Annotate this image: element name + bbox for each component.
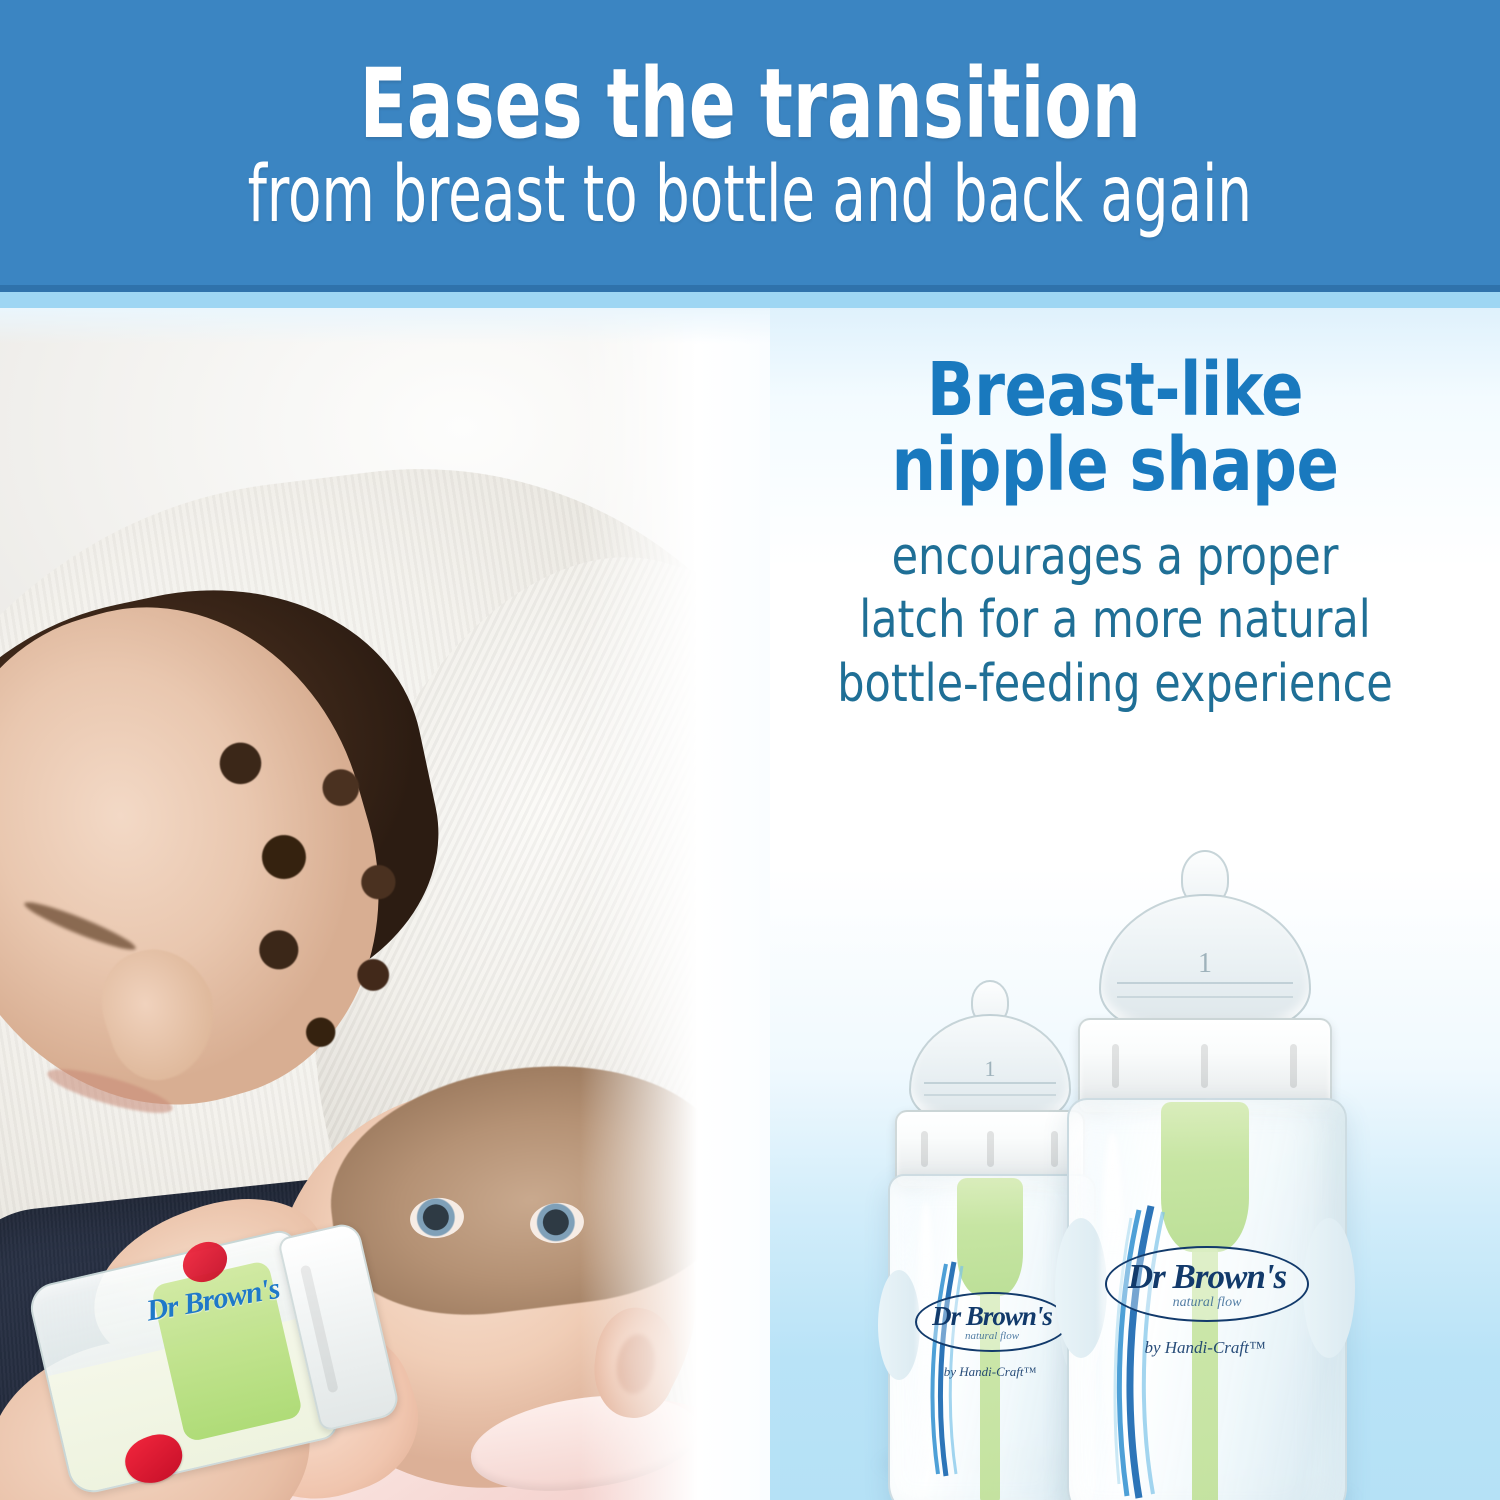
feature-headline-line1: Breast-like bbox=[767, 353, 1463, 428]
small-bottle-logo: Dr Brown's natural flow by Handi-Craft™ bbox=[915, 1292, 1065, 1380]
lifestyle-photo: Dr Brown's bbox=[0, 308, 770, 1500]
banner-title: Eases the transition bbox=[359, 56, 1140, 152]
logo-manufacturer: by Handi-Craft™ bbox=[915, 1364, 1065, 1380]
feature-headline-line2: nipple shape bbox=[767, 428, 1463, 503]
logo-oval: Dr Brown's natural flow bbox=[915, 1292, 1069, 1352]
bottle-vent-insert bbox=[1161, 1102, 1249, 1252]
logo-tagline: natural flow bbox=[1173, 1296, 1242, 1310]
header-banner: Eases the transition from breast to bott… bbox=[0, 0, 1500, 289]
logo-brand-name: Dr Brown's bbox=[1128, 1259, 1286, 1294]
bottle-vent-insert bbox=[957, 1178, 1023, 1296]
nipple-flow-level: 1 bbox=[1198, 948, 1212, 980]
feature-body-line1: encourages a proper bbox=[775, 526, 1456, 589]
large-bottle[interactable]: 1 bbox=[1055, 848, 1355, 1500]
banner-subtitle: from breast to bottle and back again bbox=[248, 156, 1252, 234]
feature-body-line3: bottle-feeding experience bbox=[775, 653, 1456, 716]
logo-tagline: natural flow bbox=[965, 1331, 1019, 1342]
logo-oval: Dr Brown's natural flow bbox=[1105, 1246, 1309, 1322]
banner-accent-strip bbox=[0, 292, 1500, 308]
feature-copy: Breast-like nipple shape encourages a pr… bbox=[745, 353, 1485, 716]
bottle-waist-right bbox=[1303, 1218, 1355, 1358]
large-bottle-nipple: 1 bbox=[1100, 848, 1310, 1038]
collar-notch bbox=[921, 1131, 928, 1167]
logo-brand-name: Dr Brown's bbox=[932, 1303, 1052, 1330]
collar-notch bbox=[1290, 1044, 1297, 1088]
feature-body: encourages a proper latch for a more nat… bbox=[775, 526, 1456, 716]
product-bottles: 1 bbox=[860, 828, 1500, 1500]
main-stage: Dr Brown's Breast-like nipple shape enco… bbox=[0, 308, 1500, 1500]
collar-notch bbox=[1201, 1044, 1208, 1088]
nipple-ribs bbox=[924, 1082, 1056, 1096]
large-bottle-logo: Dr Brown's natural flow by Handi-Craft™ bbox=[1105, 1246, 1305, 1358]
banner-bottom-edge bbox=[0, 285, 1500, 292]
bottle-waist-left bbox=[878, 1270, 920, 1380]
nipple-ribs bbox=[1117, 982, 1293, 998]
mother-hair-curls bbox=[145, 689, 495, 1107]
nipple-flow-level: 1 bbox=[985, 1056, 996, 1082]
logo-manufacturer: by Handi-Craft™ bbox=[1105, 1338, 1305, 1358]
collar-notch bbox=[987, 1131, 994, 1167]
collar-notch bbox=[1112, 1044, 1119, 1088]
small-bottle-nipple: 1 bbox=[910, 978, 1070, 1128]
large-bottle-body: Dr Brown's natural flow by Handi-Craft™ bbox=[1067, 1098, 1343, 1500]
product-feature-image: Eases the transition from breast to bott… bbox=[0, 0, 1500, 1500]
feature-body-line2: latch for a more natural bbox=[775, 589, 1456, 652]
